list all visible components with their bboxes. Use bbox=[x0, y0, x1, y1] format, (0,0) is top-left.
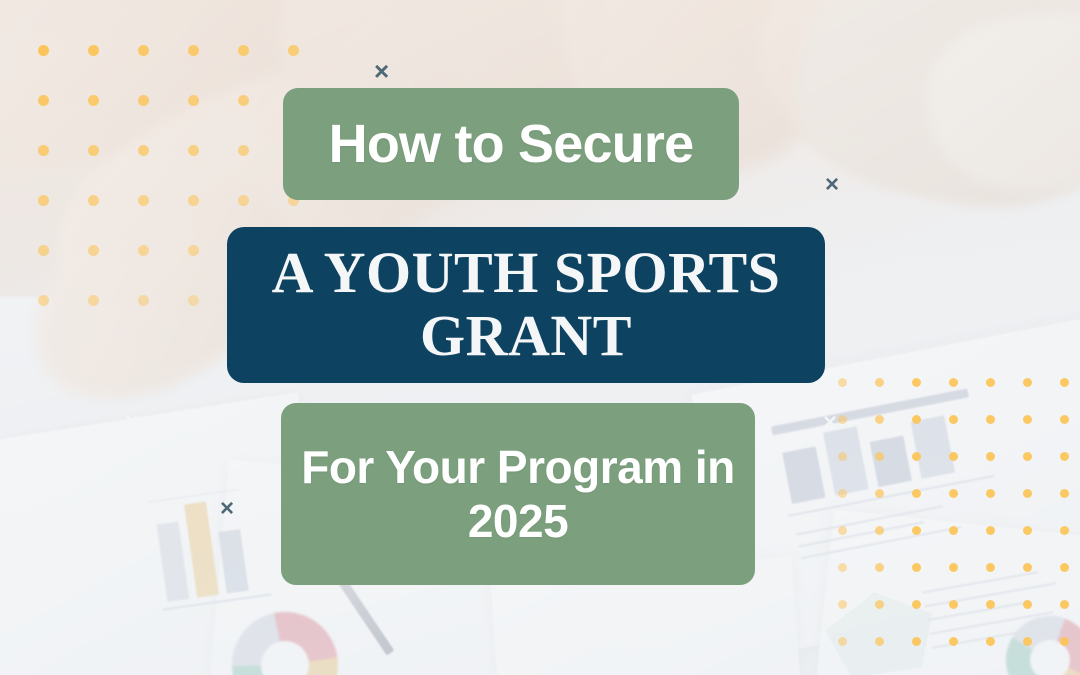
decorative-dot bbox=[188, 195, 199, 206]
decorative-dot bbox=[875, 452, 884, 461]
decorative-dot bbox=[138, 45, 149, 56]
decorative-dot bbox=[912, 526, 921, 535]
decorative-dot bbox=[838, 563, 847, 572]
decorative-dot bbox=[1060, 415, 1069, 424]
decorative-dot bbox=[949, 489, 958, 498]
decorative-dot bbox=[1060, 526, 1069, 535]
x-mark-top-center-icon: × bbox=[374, 58, 389, 84]
decorative-dot bbox=[986, 378, 995, 387]
decorative-dot bbox=[986, 600, 995, 609]
decorative-dot bbox=[949, 452, 958, 461]
poster-canvas: ××××× How to Secure A YOUTH SPORTS GRANT… bbox=[0, 0, 1080, 675]
decorative-dot bbox=[88, 195, 99, 206]
decorative-dot bbox=[912, 378, 921, 387]
decorative-dot bbox=[875, 600, 884, 609]
decorative-dot bbox=[986, 489, 995, 498]
decorative-dot bbox=[1023, 415, 1032, 424]
decorative-dot bbox=[986, 415, 995, 424]
decorative-dot bbox=[238, 145, 249, 156]
decorative-dot bbox=[986, 637, 995, 646]
decorative-dot bbox=[912, 563, 921, 572]
decorative-dot bbox=[88, 95, 99, 106]
decorative-dot bbox=[1060, 378, 1069, 387]
decorative-dot bbox=[875, 637, 884, 646]
decorative-dot bbox=[138, 95, 149, 106]
decorative-dot bbox=[1023, 526, 1032, 535]
decorative-dot bbox=[838, 452, 847, 461]
decorative-dot bbox=[949, 563, 958, 572]
decorative-dot bbox=[986, 452, 995, 461]
decorative-dot bbox=[1060, 563, 1069, 572]
decorative-dot bbox=[875, 526, 884, 535]
decorative-dot bbox=[88, 295, 99, 306]
decorative-dot bbox=[912, 415, 921, 424]
decorative-dot bbox=[912, 489, 921, 498]
decorative-dot bbox=[38, 195, 49, 206]
decorative-dot bbox=[838, 637, 847, 646]
decorative-dot bbox=[38, 95, 49, 106]
decorative-dot bbox=[138, 295, 149, 306]
x-mark-low-left-icon: × bbox=[220, 497, 234, 521]
x-mark-mid-left-icon: × bbox=[125, 410, 139, 434]
decorative-dot bbox=[138, 245, 149, 256]
decorative-dot bbox=[38, 45, 49, 56]
decorative-dot bbox=[986, 563, 995, 572]
decorative-dot bbox=[188, 45, 199, 56]
decorative-dot bbox=[986, 526, 995, 535]
decorative-dot bbox=[949, 415, 958, 424]
decorative-dot bbox=[238, 95, 249, 106]
decorative-dot bbox=[1023, 563, 1032, 572]
decorative-dot bbox=[88, 145, 99, 156]
decorative-dot bbox=[949, 600, 958, 609]
decorative-dot bbox=[1023, 378, 1032, 387]
decorative-dot bbox=[912, 600, 921, 609]
headline-band-line1: How to Secure bbox=[283, 88, 739, 200]
decorative-dot bbox=[1023, 600, 1032, 609]
decorative-dot bbox=[38, 145, 49, 156]
decorative-dot bbox=[1023, 637, 1032, 646]
decorative-dot bbox=[138, 195, 149, 206]
decorative-dot bbox=[949, 378, 958, 387]
decorative-dot bbox=[912, 637, 921, 646]
decorative-dot bbox=[88, 245, 99, 256]
headline-band-line3: For Your Program in 2025 bbox=[281, 403, 755, 585]
headline-band-line2: A YOUTH SPORTS GRANT bbox=[227, 227, 825, 383]
decorative-dot bbox=[838, 378, 847, 387]
decorative-dot bbox=[838, 526, 847, 535]
decorative-dot bbox=[838, 489, 847, 498]
decorative-dot bbox=[188, 95, 199, 106]
decorative-dot bbox=[875, 489, 884, 498]
decorative-dot bbox=[1023, 452, 1032, 461]
decorative-dot bbox=[88, 45, 99, 56]
x-mark-mid-right-icon: × bbox=[823, 411, 837, 435]
decorative-dot bbox=[238, 195, 249, 206]
decorative-dot bbox=[188, 245, 199, 256]
decorative-dot bbox=[838, 415, 847, 424]
decorative-dot bbox=[188, 145, 199, 156]
decorative-dot bbox=[912, 452, 921, 461]
decorative-dot bbox=[288, 45, 299, 56]
decorative-dot bbox=[1060, 452, 1069, 461]
decorative-dot bbox=[1023, 489, 1032, 498]
decorative-dot bbox=[949, 526, 958, 535]
decorative-dot bbox=[875, 563, 884, 572]
headline-line3-text: For Your Program in 2025 bbox=[281, 440, 755, 549]
decorative-dot bbox=[838, 600, 847, 609]
decorative-dot bbox=[188, 295, 199, 306]
decorative-dot bbox=[38, 295, 49, 306]
x-mark-top-right-icon: × bbox=[825, 173, 839, 197]
headline-line1-text: How to Secure bbox=[329, 116, 694, 172]
decorative-dot bbox=[949, 637, 958, 646]
decorative-dot bbox=[1060, 600, 1069, 609]
headline-line2-text: A YOUTH SPORTS GRANT bbox=[227, 242, 825, 367]
decorative-dot bbox=[38, 245, 49, 256]
decorative-dot bbox=[1060, 489, 1069, 498]
decorative-dot bbox=[138, 145, 149, 156]
decorative-dot bbox=[1060, 637, 1069, 646]
decorative-dot bbox=[238, 45, 249, 56]
decorative-dot bbox=[875, 415, 884, 424]
decorative-dot bbox=[875, 378, 884, 387]
